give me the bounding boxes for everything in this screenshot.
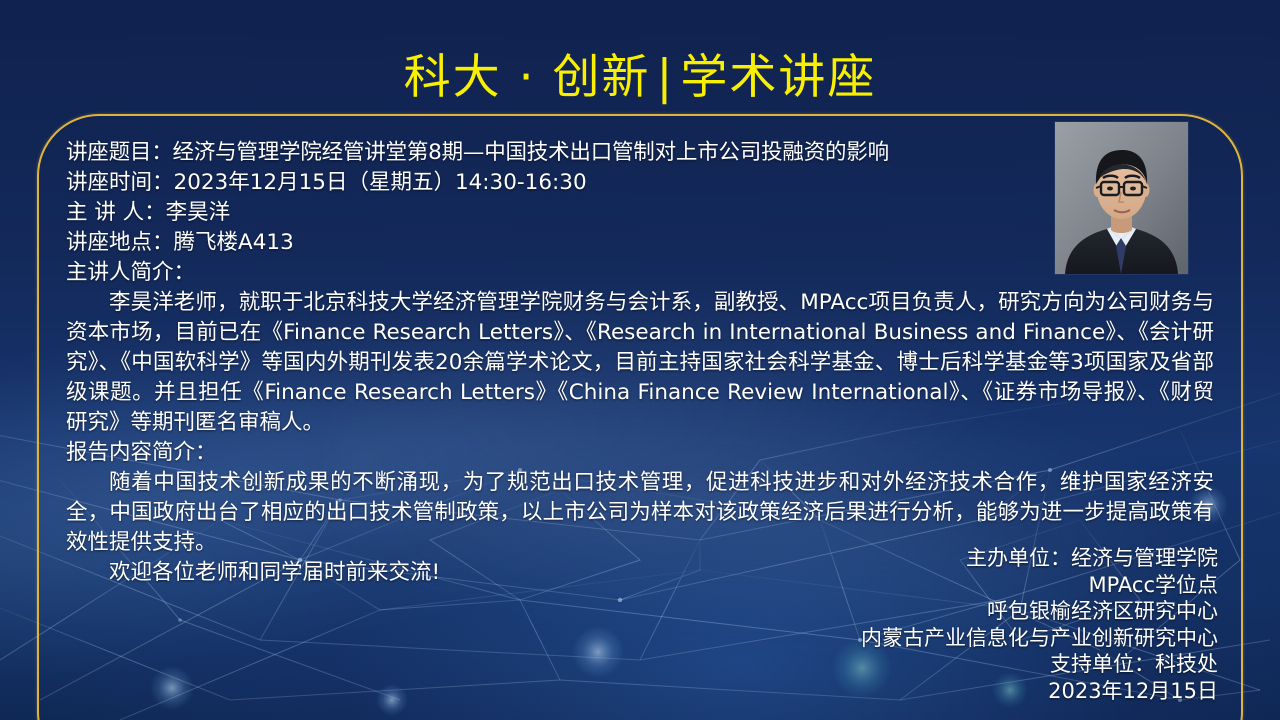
organizer-line: 呼包银榆经济区研究中心	[861, 598, 1218, 625]
organizer-block: 主办单位：经济与管理学院 MPAcc学位点 呼包银榆经济区研究中心 内蒙古产业信…	[861, 545, 1218, 704]
title-left-text: 科大 · 创新	[404, 50, 651, 105]
organizer-line: 主办单位：经济与管理学院	[861, 545, 1218, 572]
time-label: 讲座时间：	[66, 170, 174, 195]
page-title: 科大 · 创新|学术讲座	[0, 38, 1280, 107]
bio-heading: 主讲人简介：	[66, 258, 1214, 288]
topic-line: 讲座题目：经济与管理学院经管讲堂第8期—中国技术出口管制对上市公司投融资的影响	[66, 138, 1214, 168]
venue-value: 腾飞楼A413	[174, 230, 294, 255]
time-line: 讲座时间：2023年12月15日（星期五）14:30-16:30	[66, 168, 1214, 198]
time-value: 2023年12月15日（星期五）14:30-16:30	[174, 170, 587, 195]
venue-label: 讲座地点：	[66, 230, 174, 255]
topic-label: 讲座题目：	[66, 140, 173, 165]
support-unit-line: 支持单位：科技处	[861, 651, 1218, 678]
bio-paragraph: 李昊洋老师，就职于北京科技大学经济管理学院财务与会计系，副教授、MPAcc项目负…	[66, 288, 1214, 438]
speaker-label: 主 讲 人：	[66, 200, 166, 225]
title-right-text: 学术讲座	[680, 50, 876, 105]
venue-line: 讲座地点：腾飞楼A413	[66, 228, 1214, 258]
speaker-line: 主 讲 人：李昊洋	[66, 198, 1214, 228]
abstract-heading: 报告内容简介：	[66, 438, 1214, 468]
lecture-poster: 科大 · 创新|学术讲座	[0, 0, 1280, 720]
topic-value: 经济与管理学院经管讲堂第8期—中国技术出口管制对上市公司投融资的影响	[173, 140, 889, 165]
lecture-details: 讲座题目：经济与管理学院经管讲堂第8期—中国技术出口管制对上市公司投融资的影响 …	[66, 138, 1214, 588]
speaker-value: 李昊洋	[166, 200, 231, 225]
title-separator: |	[650, 50, 680, 105]
footer-date: 2023年12月15日	[861, 678, 1218, 705]
organizer-line: MPAcc学位点	[861, 572, 1218, 599]
organizer-line: 内蒙古产业信息化与产业创新研究中心	[861, 625, 1218, 652]
